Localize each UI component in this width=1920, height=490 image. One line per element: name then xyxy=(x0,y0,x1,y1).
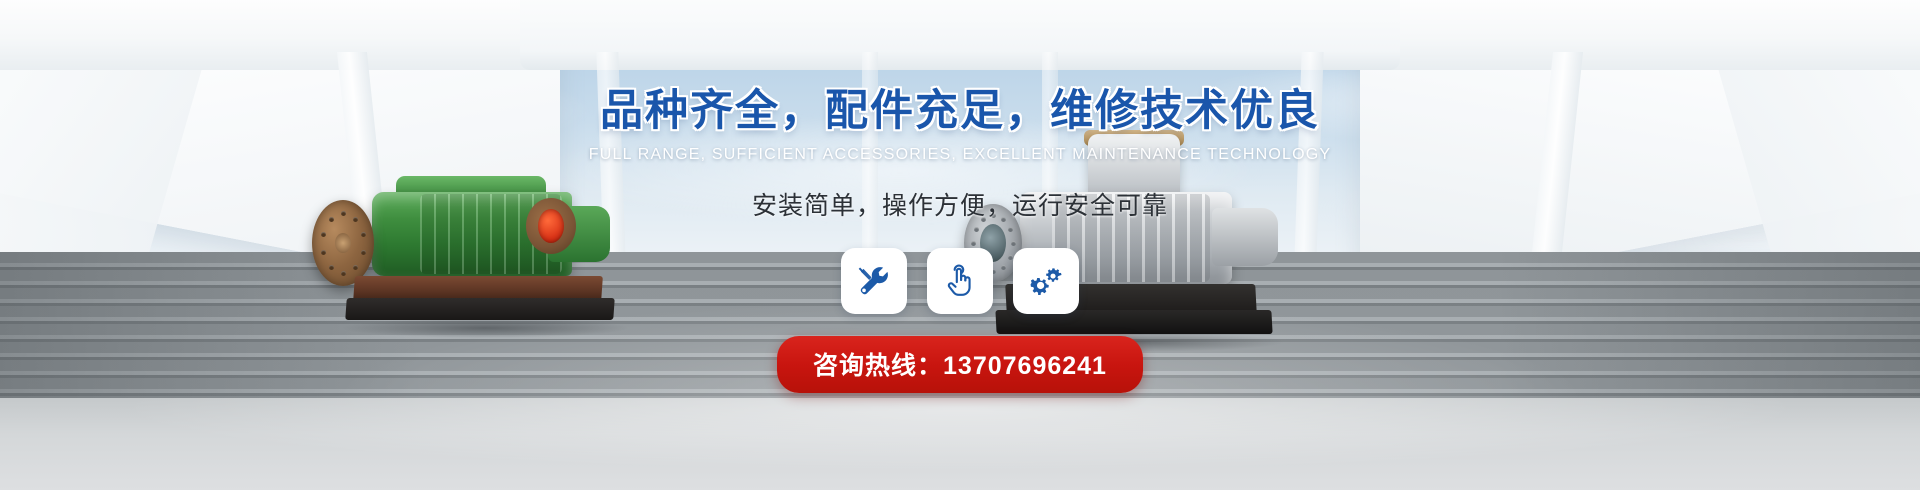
promo-banner: 品种齐全，配件充足，维修技术优良 FULL RANGE, SUFFICIENT … xyxy=(0,0,1920,490)
hotline-banner[interactable]: 咨询热线：13707696241 xyxy=(777,336,1143,393)
banner-subtitle-english: FULL RANGE, SUFFICIENT ACCESSORIES, EXCE… xyxy=(589,146,1331,164)
feature-icon-row xyxy=(841,248,1079,314)
tools-wrench-screwdriver-icon xyxy=(857,264,891,298)
feature-item-touch[interactable] xyxy=(927,248,993,314)
feature-item-gears[interactable] xyxy=(1013,248,1079,314)
feature-item-tools[interactable] xyxy=(841,248,907,314)
gears-cogs-icon xyxy=(1029,264,1063,298)
banner-headline: 品种齐全，配件充足，维修技术优良 xyxy=(600,76,1320,138)
banner-content: 品种齐全，配件充足，维修技术优良 FULL RANGE, SUFFICIENT … xyxy=(0,0,1920,490)
hand-pointer-touch-icon xyxy=(943,264,977,298)
banner-subtitle-chinese: 安装简单，操作方便，运行安全可靠 xyxy=(752,186,1168,222)
